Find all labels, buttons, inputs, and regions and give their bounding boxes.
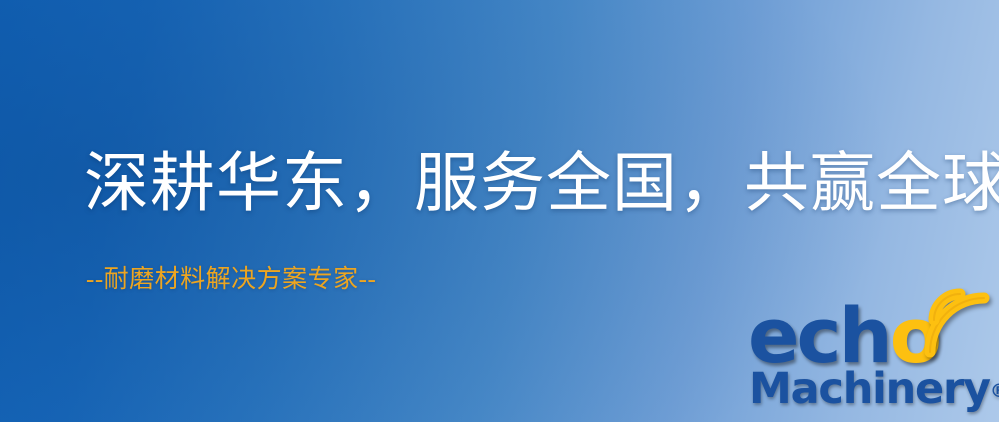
logo-tagline-text: Machinery (749, 364, 990, 414)
logo-brand-name: echo (748, 298, 939, 374)
page-subtitle: --耐磨材料解决方案专家-- (86, 267, 376, 292)
hero-banner: 深耕华东，服务全国，共赢全球 --耐磨材料解决方案专家-- echo Machi… (0, 0, 999, 422)
registered-trademark-icon: ® (990, 380, 999, 402)
page-title: 深耕华东，服务全国，共赢全球 (84, 152, 999, 217)
logo-tagline: Machinery® (749, 368, 999, 413)
company-logo[interactable]: echo Machinery® (744, 296, 994, 422)
signal-waves-icon (922, 290, 999, 366)
logo-wordmark: echo Machinery® (744, 296, 994, 422)
